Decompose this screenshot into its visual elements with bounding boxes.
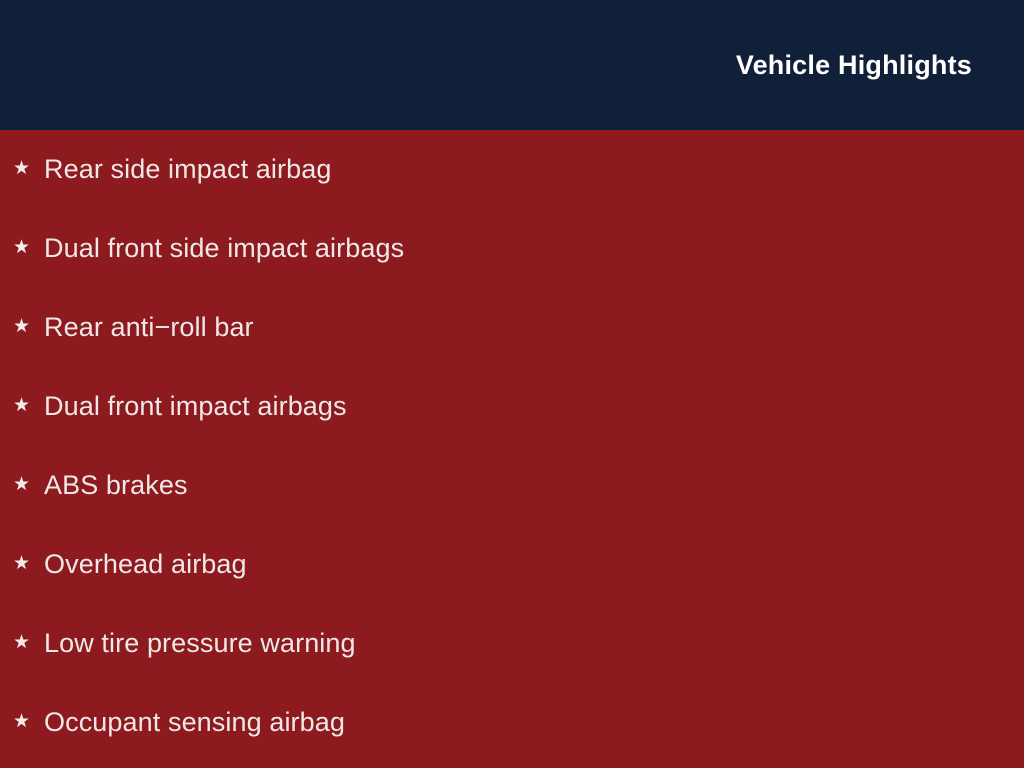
vehicle-highlights-list: ★ Rear side impact airbag ★ Dual front s… xyxy=(0,130,1024,762)
list-item: ★ Rear side impact airbag xyxy=(0,130,1024,209)
star-icon: ★ xyxy=(13,396,29,415)
list-item-label: ABS brakes xyxy=(44,470,188,501)
page-title: Vehicle Highlights xyxy=(736,0,972,130)
list-item: ★ Dual front side impact airbags xyxy=(0,209,1024,288)
list-item: ★ ABS brakes xyxy=(0,446,1024,525)
list-item-label: Dual front impact airbags xyxy=(44,391,347,422)
list-item-label: Occupant sensing airbag xyxy=(44,707,345,738)
star-icon: ★ xyxy=(13,712,29,731)
slide-body: ★ Rear side impact airbag ★ Dual front s… xyxy=(0,130,1024,768)
list-item-label: Rear side impact airbag xyxy=(44,154,331,185)
list-item-label: Low tire pressure warning xyxy=(44,628,356,659)
star-icon: ★ xyxy=(13,159,29,178)
list-item-label: Rear anti−roll bar xyxy=(44,312,254,343)
star-icon: ★ xyxy=(13,317,29,336)
list-item: ★ Occupant sensing airbag xyxy=(0,683,1024,762)
slide-header-bar: Vehicle Highlights xyxy=(0,0,1024,130)
vehicle-highlights-slide: Vehicle Highlights ★ Rear side impact ai… xyxy=(0,0,1024,768)
star-icon: ★ xyxy=(13,238,29,257)
list-item-label: Dual front side impact airbags xyxy=(44,233,404,264)
list-item: ★ Overhead airbag xyxy=(0,525,1024,604)
list-item-label: Overhead airbag xyxy=(44,549,247,580)
star-icon: ★ xyxy=(13,475,29,494)
list-item: ★ Dual front impact airbags xyxy=(0,367,1024,446)
list-item: ★ Rear anti−roll bar xyxy=(0,288,1024,367)
star-icon: ★ xyxy=(13,633,29,652)
star-icon: ★ xyxy=(13,554,29,573)
list-item: ★ Low tire pressure warning xyxy=(0,604,1024,683)
